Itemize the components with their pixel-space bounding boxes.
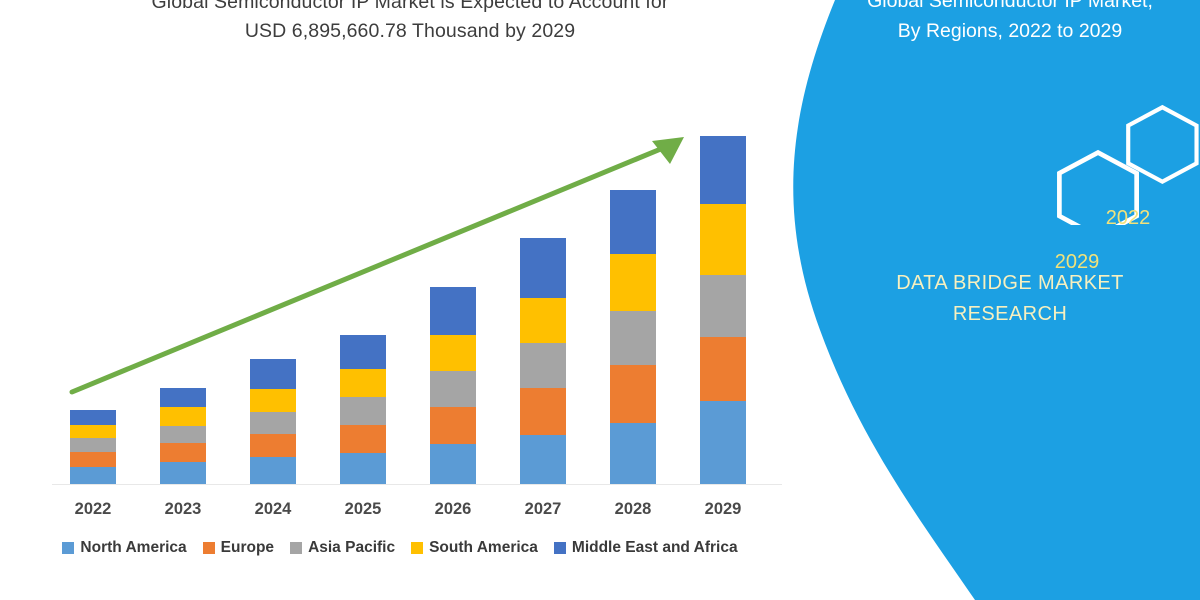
bar-segment <box>160 443 206 462</box>
bar-segment <box>430 444 476 484</box>
legend-swatch-icon <box>554 542 566 554</box>
bar-segment <box>610 311 656 365</box>
bar-segment <box>340 397 386 425</box>
x-axis-label-2024: 2024 <box>228 500 318 519</box>
bar-group-2023 <box>160 388 206 484</box>
hexagon-group: 2022 2029 <box>910 85 1200 225</box>
bar-group-2026 <box>430 287 476 484</box>
bar-segment <box>430 407 476 445</box>
legend-label: Middle East and Africa <box>572 539 738 557</box>
legend-label: South America <box>429 539 538 557</box>
bar-segment <box>430 335 476 372</box>
bar-segment <box>250 412 296 434</box>
infographic-root: Global Semiconductor IP Market is Expect… <box>0 0 1200 600</box>
bar-segment <box>160 388 206 407</box>
legend-swatch-icon <box>62 542 74 554</box>
bar-segment <box>610 190 656 254</box>
legend-item-europe[interactable]: Europe <box>203 539 274 557</box>
bar-group-2025 <box>340 335 386 484</box>
bar-segment <box>250 359 296 389</box>
bar-group-2024 <box>250 359 296 484</box>
legend-label: Europe <box>221 539 274 557</box>
bar-segment <box>610 423 656 484</box>
bar-segment <box>250 434 296 458</box>
brand-panel: Global Semiconductor IP Market, By Regio… <box>760 0 1200 600</box>
hexagon-outlines <box>910 85 1200 225</box>
brand-line1: DATA BRIDGE MARKET <box>896 272 1124 294</box>
x-axis-label-2028: 2028 <box>588 500 678 519</box>
legend-label: Asia Pacific <box>308 539 395 557</box>
legend-item-north-america[interactable]: North America <box>62 539 186 557</box>
bar-segment <box>70 452 116 467</box>
legend-item-south-america[interactable]: South America <box>411 539 538 557</box>
legend-label: North America <box>80 539 186 557</box>
chart-card: Global Semiconductor IP Market is Expect… <box>0 0 830 600</box>
x-axis-label-2029: 2029 <box>678 500 768 519</box>
bar-segment <box>340 335 386 370</box>
panel-title-line1: Global Semiconductor IP Market, <box>867 0 1153 12</box>
bar-segment <box>520 388 566 435</box>
bar-segment <box>70 467 116 484</box>
bar-segment <box>70 410 116 425</box>
bar-segment <box>250 389 296 412</box>
bar-segment <box>520 238 566 298</box>
bar-segment <box>160 462 206 484</box>
bar-segment <box>340 425 386 454</box>
plot-area: 20222023202420252026202720282029 <box>0 0 830 600</box>
brand-name: DATA BRIDGE MARKET RESEARCH <box>820 268 1200 330</box>
x-axis-label-2025: 2025 <box>318 500 408 519</box>
bar-segment <box>520 298 566 344</box>
bar-group-2022 <box>70 410 116 484</box>
bar-segment <box>700 337 746 400</box>
bar-segment <box>610 365 656 422</box>
bar-segment <box>70 425 116 439</box>
legend-item-middle-east-and-africa[interactable]: Middle East and Africa <box>554 539 738 557</box>
legend-swatch-icon <box>203 542 215 554</box>
panel-content: Global Semiconductor IP Market, By Regio… <box>760 0 1200 600</box>
bar-group-2028 <box>610 190 656 484</box>
bar-segment <box>340 369 386 397</box>
legend-item-asia-pacific[interactable]: Asia Pacific <box>290 539 395 557</box>
x-axis-labels: 20222023202420252026202720282029 <box>0 500 830 524</box>
bar-segment <box>430 371 476 407</box>
bar-segment <box>160 407 206 426</box>
bar-group-2027 <box>520 238 566 484</box>
bar-group-2029 <box>700 136 746 484</box>
panel-title-line2: By Regions, 2022 to 2029 <box>830 16 1190 46</box>
brand-line2: RESEARCH <box>820 299 1200 330</box>
legend-swatch-icon <box>411 542 423 554</box>
bar-segment <box>610 254 656 310</box>
bar-segment <box>700 275 746 337</box>
x-axis-label-2023: 2023 <box>138 500 228 519</box>
bar-segment <box>430 287 476 335</box>
x-axis-label-2022: 2022 <box>48 500 138 519</box>
bar-segment <box>160 426 206 444</box>
hexagon-2022 <box>1128 107 1196 181</box>
chart-legend: North AmericaEuropeAsia PacificSouth Ame… <box>0 539 800 557</box>
x-axis-label-2026: 2026 <box>408 500 498 519</box>
bar-segment <box>70 438 116 452</box>
panel-title: Global Semiconductor IP Market, By Regio… <box>830 0 1190 46</box>
legend-swatch-icon <box>290 542 302 554</box>
hexagon-2022-label: 2022 <box>1093 207 1163 230</box>
x-axis-label-2027: 2027 <box>498 500 588 519</box>
bar-segment <box>700 401 746 484</box>
bar-segment <box>520 435 566 485</box>
bar-segment <box>340 453 386 484</box>
bar-segment <box>700 204 746 275</box>
bar-segment <box>700 136 746 204</box>
bar-segment <box>520 343 566 388</box>
bar-segment <box>250 457 296 484</box>
